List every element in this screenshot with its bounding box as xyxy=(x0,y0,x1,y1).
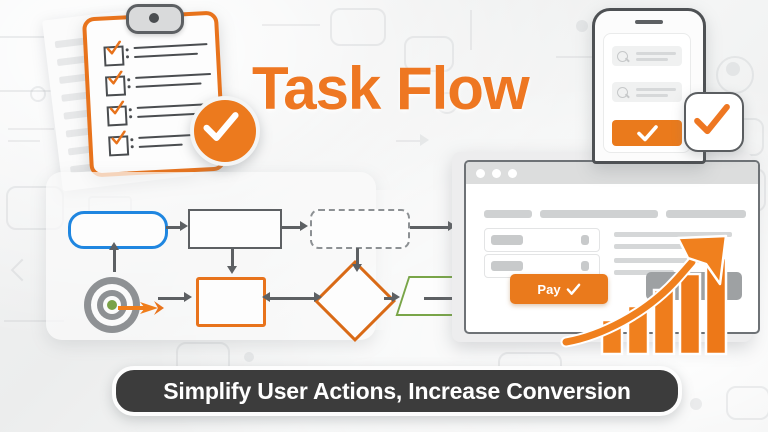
traffic-dot[interactable] xyxy=(476,169,485,178)
search-input[interactable] xyxy=(612,82,682,102)
clipboard-clamp xyxy=(126,4,184,34)
check-icon xyxy=(110,131,127,147)
check-icon xyxy=(108,101,125,117)
check-icon xyxy=(194,100,248,154)
page-title: Task Flow xyxy=(252,54,529,124)
checklist-row[interactable] xyxy=(103,41,204,66)
check-icon xyxy=(107,71,124,87)
tagline-text: Simplify User Actions, Increase Conversi… xyxy=(163,378,631,405)
growth-arrow-icon xyxy=(560,232,760,357)
flow-node-dashed[interactable] xyxy=(310,209,410,249)
header-bar-chip xyxy=(540,210,658,218)
browser-title-bar xyxy=(466,162,758,184)
dart-icon xyxy=(118,300,164,316)
phone-submit-button[interactable] xyxy=(612,120,682,146)
flow-node-process[interactable] xyxy=(188,209,282,249)
poster-canvas: Task Flow xyxy=(0,0,768,432)
pay-button-label: Pay xyxy=(537,282,560,297)
search-icon-handle xyxy=(625,93,630,98)
phone-screen xyxy=(603,33,691,153)
check-icon xyxy=(612,120,682,146)
flow-node-action[interactable] xyxy=(196,277,266,327)
header-bar-chip xyxy=(484,210,532,218)
checklist-row[interactable] xyxy=(105,71,206,96)
tagline-banner: Simplify User Actions, Increase Conversi… xyxy=(112,366,682,416)
phone-success-badge xyxy=(684,92,744,152)
search-input[interactable] xyxy=(612,46,682,66)
traffic-dot[interactable] xyxy=(492,169,501,178)
completed-badge xyxy=(190,96,260,166)
check-icon xyxy=(105,41,122,57)
phone-speaker xyxy=(635,20,663,24)
header-bar-chip xyxy=(666,210,746,218)
check-icon xyxy=(686,94,738,146)
traffic-dot[interactable] xyxy=(508,169,517,178)
search-icon-handle xyxy=(625,57,630,62)
